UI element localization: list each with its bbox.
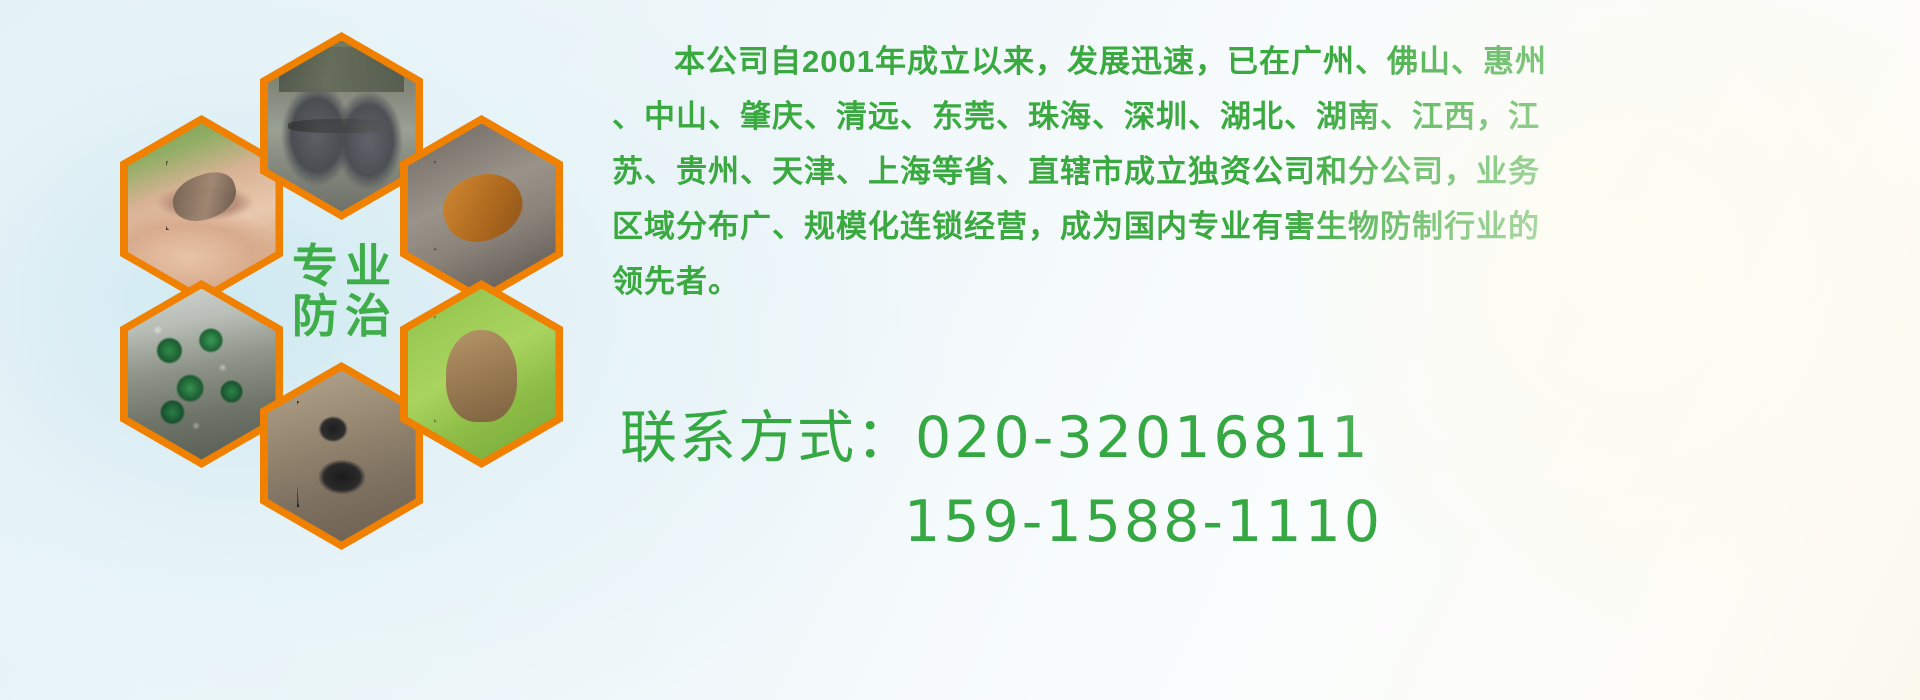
slogan-hex: 专业 防治 bbox=[260, 198, 423, 386]
intro-line-2: 、中山、肇庆、清远、东莞、珠海、深圳、湖北、湖南、江西，江 bbox=[612, 89, 1902, 144]
intro-line-4: 区域分布广、规模化连锁经营，成为国内专业有害生物防制行业的 bbox=[612, 199, 1902, 254]
slogan-line-2: 防治 bbox=[285, 292, 398, 342]
hex-cell-ant[interactable] bbox=[260, 362, 423, 550]
slogan-line-1: 专业 bbox=[285, 242, 398, 292]
hex-cell-roach[interactable] bbox=[400, 115, 563, 303]
contact-block: 联系方式：020-32016811 159-1588-1110 bbox=[620, 396, 1910, 564]
hex-cell-rats[interactable] bbox=[260, 32, 423, 220]
intro-line-3: 苏、贵州、天津、上海等省、直辖市成立独资公司和分公司，业务 bbox=[612, 144, 1902, 199]
phone-landline[interactable]: 020-32016811 bbox=[915, 405, 1370, 471]
phone-mobile[interactable]: 159-1588-1110 bbox=[904, 489, 1383, 555]
intro-line-5: 领先者。 bbox=[612, 254, 1902, 309]
contact-label: 联系方式： bbox=[620, 406, 915, 470]
green-flies-photo bbox=[128, 289, 276, 460]
pest-photo-honeycomb: 专业 防治 bbox=[88, 10, 588, 570]
cockroach-photo bbox=[408, 124, 556, 295]
company-intro-banner: 专业 防治 本公司自2001年成立以来，发展迅速，已在广州、佛山、惠州 、中山、… bbox=[0, 0, 1920, 700]
hex-cell-mosquito[interactable] bbox=[120, 115, 283, 303]
hex-cell-flies[interactable] bbox=[120, 280, 283, 468]
stink-bug-on-leaf-photo bbox=[408, 289, 556, 460]
mosquito-on-skin-photo bbox=[128, 124, 276, 295]
black-ant-photo bbox=[268, 371, 416, 542]
intro-line-1: 本公司自2001年成立以来，发展迅速，已在广州、佛山、惠州 bbox=[612, 34, 1902, 89]
contact-line-secondary: 159-1588-1110 bbox=[620, 480, 1910, 564]
two-rats-photo bbox=[268, 41, 416, 212]
hex-cell-stinkbug[interactable] bbox=[400, 280, 563, 468]
contact-line-primary: 联系方式：020-32016811 bbox=[620, 396, 1910, 480]
company-intro-paragraph: 本公司自2001年成立以来，发展迅速，已在广州、佛山、惠州 、中山、肇庆、清远、… bbox=[612, 34, 1902, 309]
